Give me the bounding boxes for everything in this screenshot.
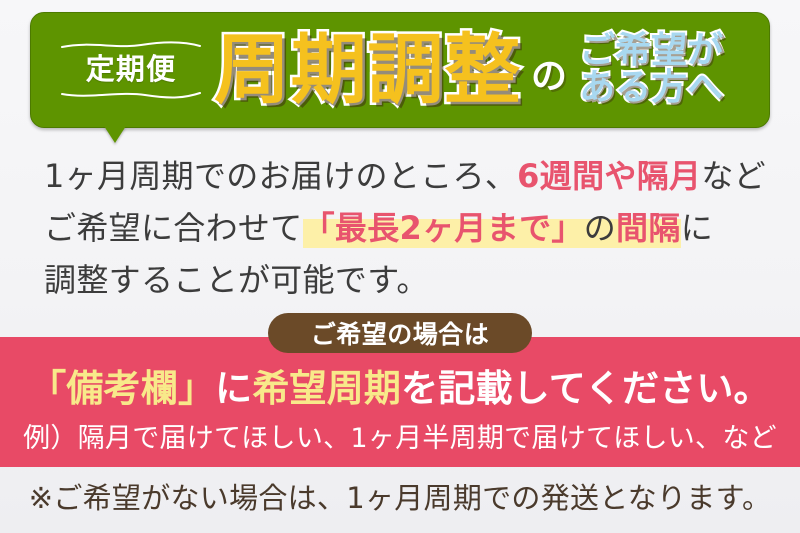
header-banner: 定期便 周期調整 の ご希望が ある方へ: [30, 12, 770, 128]
body-line-3: 調整することが可能です。: [44, 254, 764, 306]
instruction-badge: ご希望の場合は: [268, 313, 532, 353]
header-audience-text: ご希望が ある方へ: [579, 33, 723, 106]
body-line-1: 1ヶ月周期でのお届けのところ、6週間や隔月など: [44, 150, 764, 202]
body-line-2-emphasis-2: 間隔: [616, 209, 681, 247]
body-line-2-plain: の: [584, 209, 616, 247]
speech-bubble-tail: [104, 126, 126, 143]
instruction-action: を記載してください。: [401, 367, 771, 410]
audience-line-2: ある方へ: [579, 70, 723, 107]
subscription-tag-label: 定期便: [86, 50, 176, 89]
instruction-field-name: 「備考欄」: [29, 367, 215, 410]
promo-banner: 定期便 周期調整 の ご希望が ある方へ 1ヶ月周期でのお届けのところ、6週間や…: [0, 0, 800, 533]
instruction-examples: 例）隔月で届けてほしい、1ヶ月半周期で届けてほしい、など: [0, 420, 800, 458]
body-line-2-emphasis-1: 「最長2ヶ月まで」: [303, 209, 584, 247]
wave-rule-bottom-icon: [61, 90, 201, 99]
body-line-1-emphasis: 6週間や隔月: [517, 157, 701, 195]
body-description: 1ヶ月周期でのお届けのところ、6週間や隔月など ご希望に合わせて「最長2ヶ月まで…: [44, 150, 764, 306]
wave-rule-top-icon: [61, 41, 201, 50]
subscription-tag: 定期便: [56, 41, 206, 98]
footer-disclaimer: ※ご希望がない場合は、1ヶ月周期での発送となります。: [0, 478, 800, 518]
body-line-1-suffix: など: [701, 157, 766, 195]
body-line-1-prefix: 1ヶ月周期でのお届けのところ、: [44, 157, 517, 195]
body-line-2-prefix: ご希望に合わせて: [44, 209, 303, 247]
header-particle: の: [531, 59, 567, 95]
instruction-particle: に: [215, 367, 252, 410]
instruction-headline: 「備考欄」に希望周期を記載してください。: [0, 365, 800, 413]
instruction-cycle-term: 希望周期: [252, 367, 401, 410]
body-line-2: ご希望に合わせて「最長2ヶ月まで」の間隔に: [44, 202, 764, 254]
header-main-title: 周期調整: [214, 32, 521, 108]
body-line-2-suffix: に: [681, 209, 713, 247]
body-line-2-marker: 「最長2ヶ月まで」の間隔: [303, 209, 681, 248]
audience-line-1: ご希望が: [579, 33, 723, 70]
